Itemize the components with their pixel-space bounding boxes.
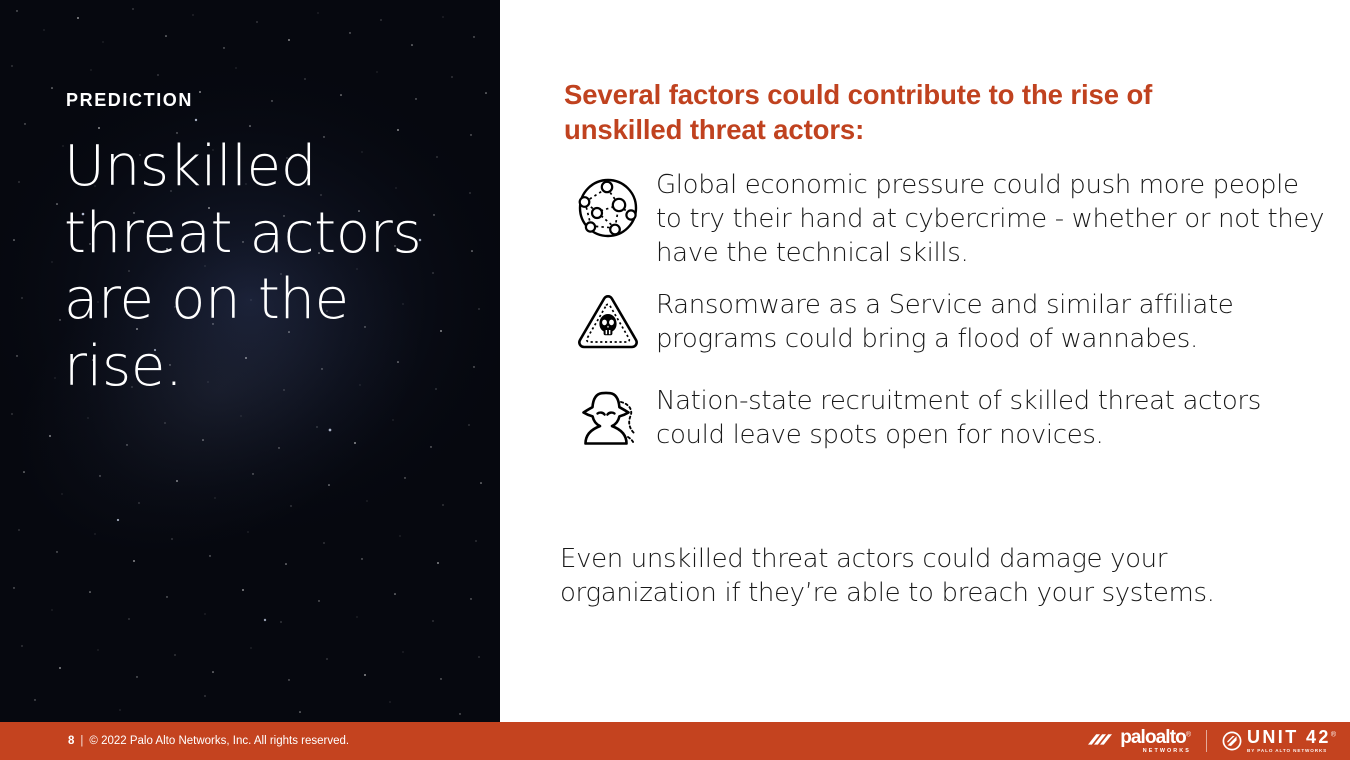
list-item-text: Global economic pressure could push more… <box>656 168 1330 270</box>
warning-triangle-skull-icon <box>560 288 656 366</box>
paloalto-logo-icon <box>1087 731 1113 751</box>
copyright-text: © 2022 Palo Alto Networks, Inc. All righ… <box>89 735 349 747</box>
unit42-logo-icon <box>1222 731 1242 751</box>
paloalto-registered-mark: ® <box>1186 732 1191 739</box>
page-number: 8 <box>68 735 74 747</box>
list-item: Nation-state recruitment of skilled thre… <box>560 384 1330 462</box>
paloalto-wordmark: paloalto® NETWORKS <box>1120 728 1191 754</box>
left-hero-panel: PREDICTION Unskilled threat actors are o… <box>0 0 500 722</box>
slide-eyebrow-label: PREDICTION <box>66 90 193 111</box>
unit42-wordmark: UNIT 42® BY PALO ALTO NETWORKS <box>1247 728 1336 754</box>
unit42-logo: UNIT 42® BY PALO ALTO NETWORKS <box>1222 728 1336 754</box>
right-content-panel: Several factors could contribute to the … <box>500 0 1350 722</box>
footer-branding: paloalto® NETWORKS UNIT 42® BY PALO ALTO… <box>1087 722 1336 760</box>
paloalto-subtitle: NETWORKS <box>1143 749 1191 754</box>
network-nodes-icon <box>560 168 656 246</box>
list-item: Ransomware as a Service and similar affi… <box>560 288 1330 366</box>
list-item-text: Ransomware as a Service and similar affi… <box>656 288 1330 356</box>
slide-title: Unskilled threat actors are on the rise. <box>64 134 464 401</box>
unit42-registered-mark: ® <box>1331 732 1336 739</box>
paloalto-name: paloalto <box>1120 727 1186 748</box>
unit42-name: UNIT 42 <box>1247 727 1331 747</box>
content-heading: Several factors could contribute to the … <box>564 78 1264 147</box>
paloalto-logo: paloalto® NETWORKS <box>1087 728 1191 754</box>
slide-footer: 8 | © 2022 Palo Alto Networks, Inc. All … <box>0 722 1350 760</box>
unit42-subtitle: BY PALO ALTO NETWORKS <box>1247 749 1327 754</box>
footer-separator: | <box>80 735 83 747</box>
slide: PREDICTION Unskilled threat actors are o… <box>0 0 1350 760</box>
list-item: Global economic pressure could push more… <box>560 168 1330 270</box>
footer-copyright-block: 8 | © 2022 Palo Alto Networks, Inc. All … <box>68 735 349 747</box>
brand-divider <box>1206 730 1207 752</box>
closing-paragraph: Even unskilled threat actors could damag… <box>560 542 1280 610</box>
bullet-list: Global economic pressure could push more… <box>560 168 1330 472</box>
list-item-text: Nation-state recruitment of skilled thre… <box>656 384 1330 452</box>
spy-hacker-icon <box>560 384 656 462</box>
